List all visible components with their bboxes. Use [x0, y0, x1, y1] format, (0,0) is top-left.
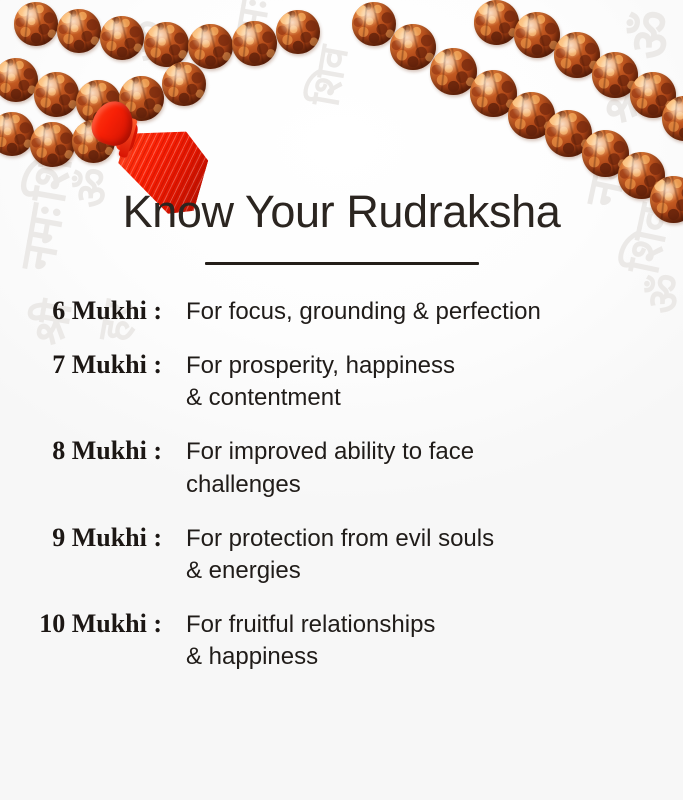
mukhi-label: 6 Mukhi : — [0, 296, 162, 326]
rudraksha-bead — [57, 9, 101, 53]
page-title: Know Your Rudraksha — [0, 186, 683, 238]
mukhi-description: For improved ability to facechallenges — [162, 436, 683, 500]
mukhi-description-line: & energies — [186, 555, 683, 587]
mukhi-description-line: For focus, grounding & perfection — [186, 296, 683, 328]
mukhi-row: 10 Mukhi :For fruitful relationships& ha… — [0, 609, 683, 673]
rudraksha-bead — [514, 12, 560, 58]
mukhi-description: For protection from evil souls& energies — [162, 523, 683, 587]
mukhi-list: 6 Mukhi :For focus, grounding & perfecti… — [0, 296, 683, 695]
mukhi-description-line: For prosperity, happiness — [186, 350, 683, 382]
mukhi-label: 10 Mukhi : — [0, 609, 162, 639]
mukhi-label: 8 Mukhi : — [0, 436, 162, 466]
rudraksha-bead — [34, 72, 79, 117]
mukhi-description-line: For protection from evil souls — [186, 523, 683, 555]
rudraksha-bead — [162, 62, 206, 106]
rudraksha-infographic: ॐश्रीनमःशिवॐशिवनमःॐश्रीहरॐनमःशिव Know Yo… — [0, 0, 683, 800]
watermark-glyph: शिव — [305, 43, 355, 109]
rudraksha-bead — [232, 21, 277, 66]
mukhi-description-line: & happiness — [186, 641, 683, 673]
rudraksha-bead — [474, 0, 519, 45]
mukhi-row: 8 Mukhi :For improved ability to facecha… — [0, 436, 683, 500]
mukhi-row: 7 Mukhi :For prosperity, happiness& cont… — [0, 350, 683, 414]
mukhi-description-line: For improved ability to face — [186, 436, 683, 468]
rudraksha-bead — [14, 2, 58, 46]
rudraksha-bead — [144, 22, 189, 67]
rudraksha-bead — [100, 16, 144, 60]
rudraksha-bead — [276, 10, 320, 54]
title-divider — [205, 262, 479, 265]
mukhi-row: 9 Mukhi :For protection from evil souls&… — [0, 523, 683, 587]
mukhi-description: For fruitful relationships& happiness — [162, 609, 683, 673]
rudraksha-bead — [352, 2, 396, 46]
mukhi-description-line: For fruitful relationships — [186, 609, 683, 641]
mukhi-label: 9 Mukhi : — [0, 523, 162, 553]
rudraksha-bead — [188, 24, 233, 69]
mukhi-label: 7 Mukhi : — [0, 350, 162, 380]
rudraksha-bead — [30, 122, 75, 167]
mukhi-row: 6 Mukhi :For focus, grounding & perfecti… — [0, 296, 683, 328]
rudraksha-bead — [390, 24, 436, 70]
mukhi-description-line: challenges — [186, 469, 683, 501]
mukhi-description: For focus, grounding & perfection — [162, 296, 683, 328]
mukhi-description-line: & contentment — [186, 382, 683, 414]
mukhi-description: For prosperity, happiness& contentment — [162, 350, 683, 414]
